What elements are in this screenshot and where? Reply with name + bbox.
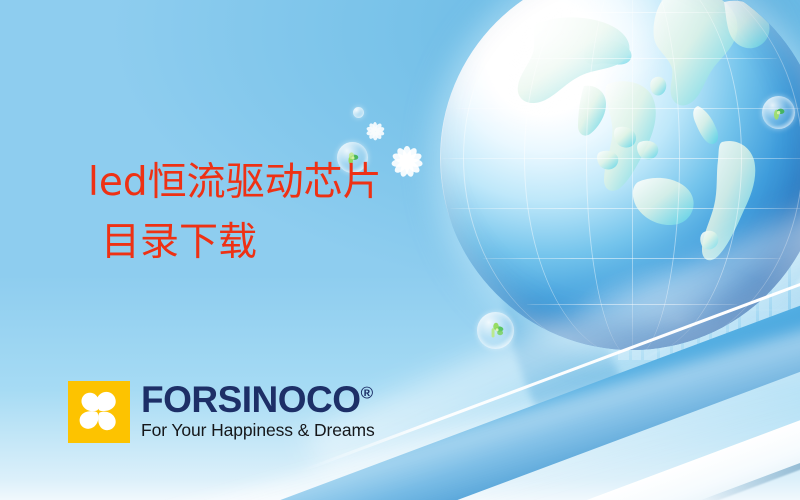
world-globe bbox=[440, 0, 800, 350]
eco-windmill-glyph bbox=[485, 320, 507, 342]
eco-leaf-glyph bbox=[769, 103, 789, 123]
headline-line-1: led恒流驱动芯片 bbox=[88, 163, 382, 202]
promo-banner: led恒流驱动芯片 目录下载 FORSINOCO® For Your Happi… bbox=[0, 0, 800, 500]
logo-wordmark-text: FORSINOCO bbox=[141, 379, 361, 420]
forsinoco-pinwheel-icon bbox=[68, 381, 130, 443]
logo-tagline: For Your Happiness & Dreams bbox=[141, 420, 375, 441]
registered-trademark-icon: ® bbox=[361, 384, 373, 403]
headline: led恒流驱动芯片 目录下载 bbox=[88, 163, 382, 262]
logo-wordmark: FORSINOCO® bbox=[141, 382, 375, 418]
globe-sphere bbox=[440, 0, 800, 350]
logo-text-block: FORSINOCO® For Your Happiness & Dreams bbox=[141, 381, 375, 441]
bubble-small-upper bbox=[353, 107, 364, 118]
flower-large-icon bbox=[390, 145, 424, 179]
bubble-eco-right-edge bbox=[762, 96, 795, 129]
flower-small-icon bbox=[365, 121, 385, 141]
company-logo: FORSINOCO® For Your Happiness & Dreams bbox=[68, 381, 375, 443]
diagonal-steel-band bbox=[685, 373, 800, 500]
headline-line-2: 目录下载 bbox=[101, 223, 382, 262]
bubble-eco-center bbox=[477, 312, 514, 349]
